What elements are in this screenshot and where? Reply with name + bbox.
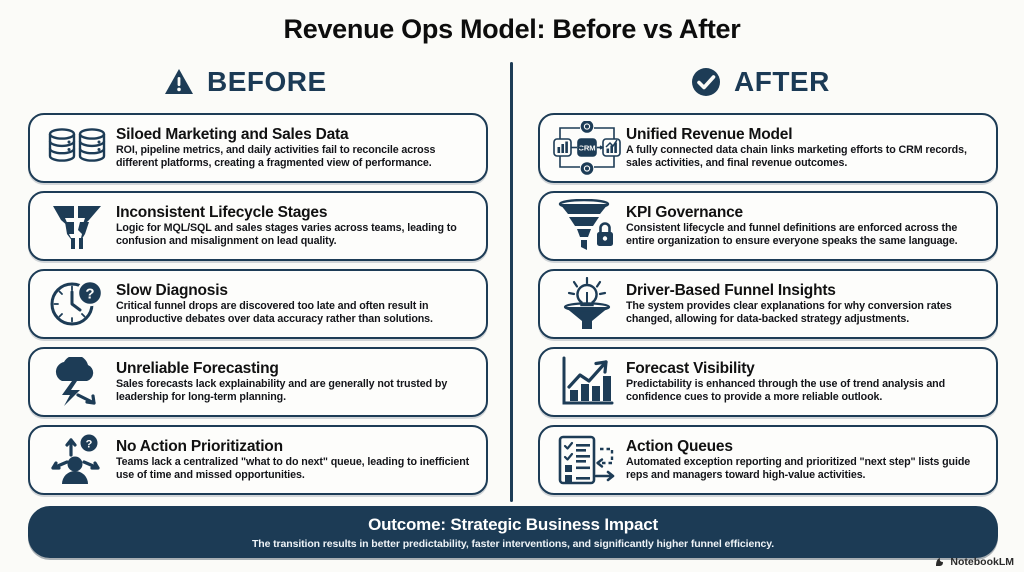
lightbulb-funnel-icon: [548, 275, 626, 333]
card-description: Teams lack a centralized "what to do nex…: [116, 456, 472, 483]
card-title: Siloed Marketing and Sales Data: [116, 126, 472, 143]
card-unreliable-forecasting[interactable]: Unreliable Forecasting Sales forecasts l…: [28, 347, 488, 417]
card-description: ROI, pipeline metrics, and daily activit…: [116, 144, 472, 171]
cracked-funnel-icon: [38, 197, 116, 255]
infographic-canvas: Revenue Ops Model: Before vs After BEFOR…: [0, 0, 1024, 572]
card-slow-diagnosis[interactable]: ? Slow Diagnosis Critical funnel drops a…: [28, 269, 488, 339]
card-description: A fully connected data chain links marke…: [626, 144, 982, 171]
card-description: Predictability is enhanced through the u…: [626, 378, 982, 405]
card-body: Siloed Marketing and Sales Data ROI, pip…: [116, 126, 476, 171]
storm-cloud-down-arrow-icon: [38, 353, 116, 411]
confused-person-arrows-icon: ?: [38, 431, 116, 489]
database-stack-icon: [38, 119, 116, 177]
card-description: Automated exception reporting and priori…: [626, 456, 982, 483]
outcome-banner: Outcome: Strategic Business Impact The t…: [28, 506, 998, 558]
card-description: Sales forecasts lack explainability and …: [116, 378, 472, 405]
card-inconsistent-lifecycle[interactable]: Inconsistent Lifecycle Stages Logic for …: [28, 191, 488, 261]
card-body: Forecast Visibility Predictability is en…: [626, 360, 986, 405]
card-title: Action Queues: [626, 438, 982, 455]
card-forecast-visibility[interactable]: Forecast Visibility Predictability is en…: [538, 347, 998, 417]
warning-triangle-icon: [163, 66, 195, 98]
outcome-subtitle: The transition results in better predict…: [252, 538, 774, 550]
growth-chart-arrow-icon: [548, 353, 626, 411]
card-body: Action Queues Automated exception report…: [626, 438, 986, 483]
column-header-before: BEFORE: [163, 62, 327, 102]
card-title: Unified Revenue Model: [626, 126, 982, 143]
column-label-before: BEFORE: [207, 66, 327, 98]
card-unified-revenue-model[interactable]: CRM Unified Revenue Model A fully connec…: [538, 113, 998, 183]
card-title: Slow Diagnosis: [116, 282, 472, 299]
card-body: KPI Governance Consistent lifecycle and …: [626, 204, 986, 249]
svg-text:?: ?: [86, 439, 93, 451]
after-column: CRM Unified Revenue Model A fully connec…: [538, 113, 998, 503]
watermark-label: NotebookLM: [950, 556, 1014, 568]
card-action-queues[interactable]: Action Queues Automated exception report…: [538, 425, 998, 495]
notebooklm-watermark: NotebookLM: [934, 556, 1014, 568]
card-title: Inconsistent Lifecycle Stages: [116, 204, 472, 221]
card-siloed-data[interactable]: Siloed Marketing and Sales Data ROI, pip…: [28, 113, 488, 183]
card-title: KPI Governance: [626, 204, 982, 221]
card-title: Unreliable Forecasting: [116, 360, 472, 377]
card-body: Inconsistent Lifecycle Stages Logic for …: [116, 204, 476, 249]
card-description: Consistent lifecycle and funnel definiti…: [626, 222, 982, 249]
card-body: Unreliable Forecasting Sales forecasts l…: [116, 360, 476, 405]
card-description: Logic for MQL/SQL and sales stages varie…: [116, 222, 472, 249]
card-body: No Action Prioritization Teams lack a ce…: [116, 438, 476, 483]
page-title: Revenue Ops Model: Before vs After: [0, 14, 1024, 45]
card-title: Driver-Based Funnel Insights: [626, 282, 982, 299]
card-title: Forecast Visibility: [626, 360, 982, 377]
column-label-after: AFTER: [734, 66, 830, 98]
checklist-arrows-icon: [548, 431, 626, 489]
svg-text:?: ?: [85, 286, 94, 303]
card-kpi-governance[interactable]: KPI Governance Consistent lifecycle and …: [538, 191, 998, 261]
card-body: Unified Revenue Model A fully connected …: [626, 126, 986, 171]
card-no-action-prioritization[interactable]: ? No Action Prioritization Teams lack a …: [28, 425, 488, 495]
crm-network-icon: CRM: [548, 119, 626, 177]
outcome-title: Outcome: Strategic Business Impact: [368, 515, 658, 535]
check-circle-icon: [690, 66, 722, 98]
svg-text:CRM: CRM: [578, 144, 595, 153]
card-title: No Action Prioritization: [116, 438, 472, 455]
card-description: The system provides clear explanations f…: [626, 300, 982, 327]
card-description: Critical funnel drops are discovered too…: [116, 300, 472, 327]
column-divider: [510, 62, 513, 502]
funnel-lock-icon: [548, 197, 626, 255]
clock-question-icon: ?: [38, 275, 116, 333]
card-body: Driver-Based Funnel Insights The system …: [626, 282, 986, 327]
notebooklm-logo-icon: [934, 556, 946, 568]
before-column: Siloed Marketing and Sales Data ROI, pip…: [28, 113, 488, 503]
card-driver-based-insights[interactable]: Driver-Based Funnel Insights The system …: [538, 269, 998, 339]
card-body: Slow Diagnosis Critical funnel drops are…: [116, 282, 476, 327]
column-header-after: AFTER: [690, 62, 830, 102]
